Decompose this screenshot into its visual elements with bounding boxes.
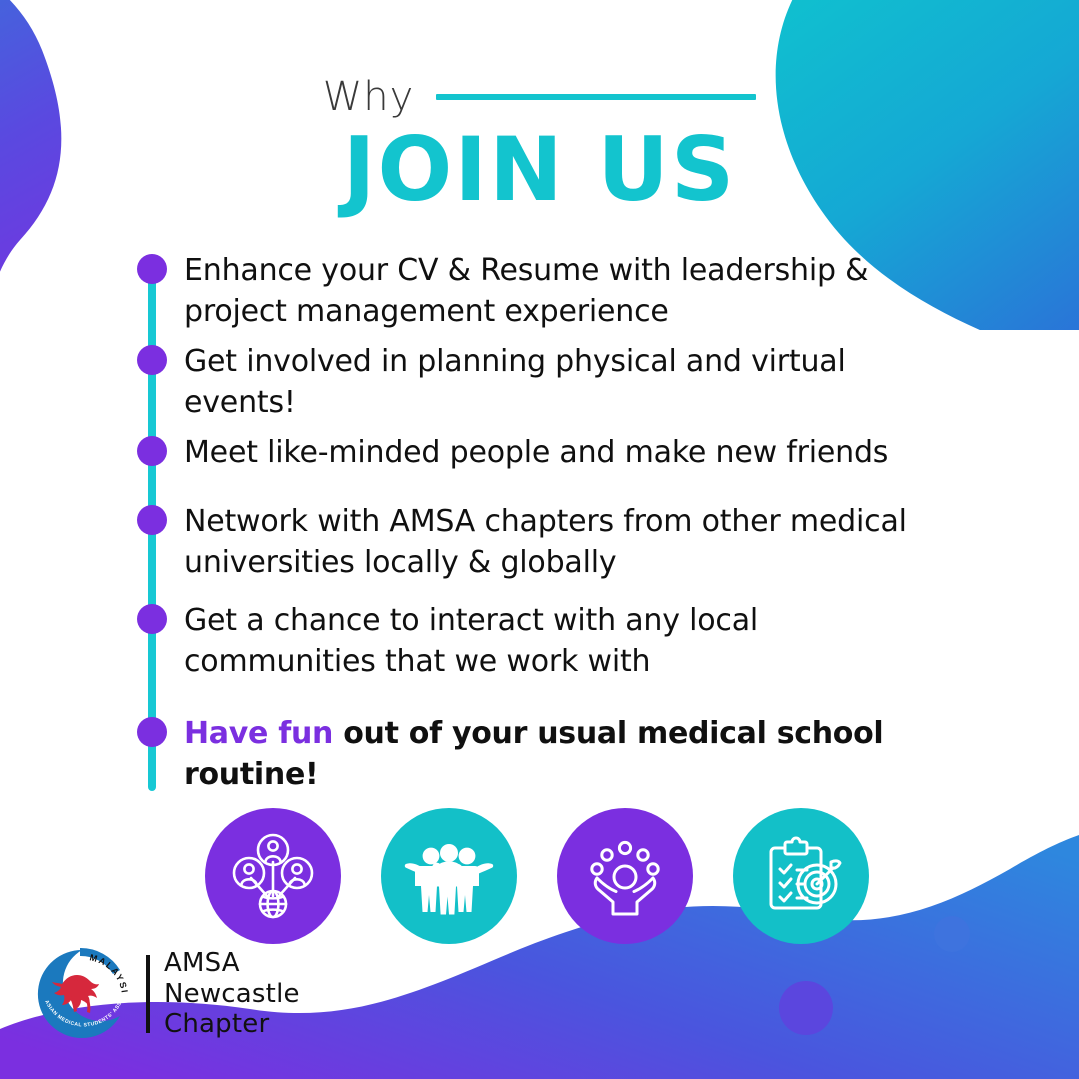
icon-strip: [205, 808, 869, 944]
list-item: Enhance your CV & Resume with leadership…: [137, 250, 967, 333]
clipboard-target-icon: [753, 828, 849, 924]
bullet-dot-icon: [137, 345, 167, 375]
accent-text: Have fun: [184, 716, 333, 751]
icon-badge-friends: [381, 808, 517, 944]
bullet-dot-icon: [137, 254, 167, 284]
poster-canvas: Why JOIN US Enhance your CV & Resume wit…: [0, 0, 1079, 1079]
list-item: Get involved in planning physical and vi…: [137, 341, 967, 424]
icon-badge-clipboard-target: [733, 808, 869, 944]
eyebrow-row: Why: [0, 72, 1079, 122]
logo-line-2: Newcastle: [164, 979, 300, 1010]
logo-text: AMSA Newcastle Chapter: [164, 948, 300, 1040]
decor-circle-blue: [934, 916, 970, 952]
icon-badge-juggling: [557, 808, 693, 944]
list-item: Have fun out of your usual medical schoo…: [137, 713, 967, 796]
logo: MALAYSIA ASIAN MEDICAL STUDENTS' ASSOCIA…: [26, 938, 300, 1050]
decor-circle-purple: [779, 981, 833, 1035]
page-title: JOIN US: [0, 124, 1079, 216]
three-friends-icon: [401, 828, 497, 924]
list-item: Network with AMSA chapters from other me…: [137, 501, 967, 584]
logo-divider: [146, 955, 150, 1033]
header-rule: [436, 94, 756, 100]
juggling-person-icon: [577, 828, 673, 924]
poster-header: Why JOIN US: [0, 72, 1079, 216]
bullet-dot-icon: [137, 436, 167, 466]
bullet-dot-icon: [137, 505, 167, 535]
list-item-label: Get a chance to interact with any local …: [184, 600, 944, 683]
logo-line-3: Chapter: [164, 1009, 300, 1040]
list-item-label: Meet like-minded people and make new fri…: [184, 432, 888, 473]
list-item-label: Network with AMSA chapters from other me…: [184, 501, 944, 584]
network-people-globe-icon: [225, 828, 321, 924]
list-item-label: Enhance your CV & Resume with leadership…: [184, 250, 944, 333]
list-item-label-emphasis: Have fun out of your usual medical schoo…: [184, 713, 944, 796]
icon-badge-network: [205, 808, 341, 944]
logo-line-1: AMSA: [164, 948, 300, 979]
eyebrow-text: Why: [323, 77, 415, 117]
list-item: Get a chance to interact with any local …: [137, 600, 967, 683]
benefits-list: Enhance your CV & Resume with leadership…: [137, 250, 967, 795]
list-item-label: Get involved in planning physical and vi…: [184, 341, 944, 424]
amsa-logo-mark-icon: MALAYSIA ASIAN MEDICAL STUDENTS' ASSOCIA…: [26, 938, 138, 1050]
list-item: Meet like-minded people and make new fri…: [137, 432, 967, 473]
bullet-dot-icon: [137, 717, 167, 747]
bullet-dot-icon: [137, 604, 167, 634]
